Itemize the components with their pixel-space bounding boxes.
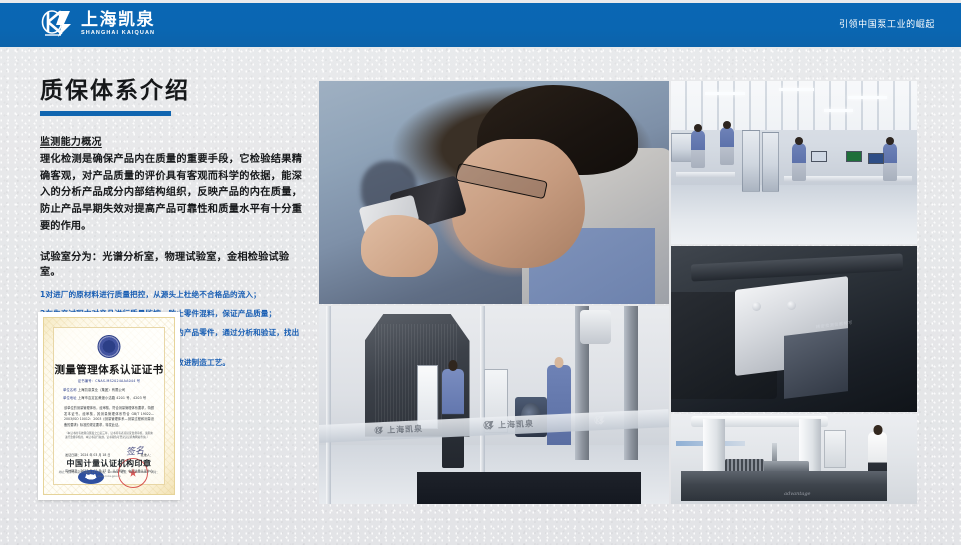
granite-table <box>417 472 641 504</box>
brand-logo[interactable]: 上海凯泉 SHANGHAI KAIQUAN <box>40 7 155 41</box>
ceiling-lamp <box>705 92 744 95</box>
ceiling-lamp <box>824 109 854 112</box>
brand-wordmark: 上海凯泉 SHANGHAI KAIQUAN <box>81 12 155 37</box>
certificate-field-company: 单位名称 上海凯泉泵业（集团）有限公司 <box>63 387 155 392</box>
hand <box>361 215 438 277</box>
certificate-footer: 中国计量认证机构印章 <box>54 458 164 469</box>
storage-cabinet <box>742 130 759 192</box>
certificate-note-text: （本证书的有效期自颁发之日起三年，证书持有者应接受监督审核，逾期未进行监督审核的… <box>65 432 153 441</box>
machine-brand-text: advantage <box>784 491 810 497</box>
header-top-strip <box>0 0 961 3</box>
certificate-id-line: 证书编号：CNAS-MS2024AAA044 号 <box>54 378 164 383</box>
brand-name-en: SHANGHAI KAIQUAN <box>81 31 155 37</box>
lab-worker <box>883 143 897 181</box>
header-tagline: 引领中国泵工业的崛起 <box>839 0 935 47</box>
technician-observer <box>547 365 572 444</box>
computer-monitor <box>811 151 827 162</box>
photo-instrument-closeup[interactable]: 精密检测仪器特写 精密检测仪器特写 <box>671 246 917 412</box>
cmm-probe <box>772 443 777 463</box>
certificate-image[interactable]: 测量管理体系认证证书 证书编号：CNAS-MS2024AAA044 号 单位名称… <box>38 312 180 500</box>
top-header-bar: 上海凯泉 SHANGHAI KAIQUAN 引领中国泵工业的崛起 <box>0 0 961 47</box>
national-measurement-emblem <box>98 335 121 358</box>
certificate-face: 测量管理体系认证证书 证书编号：CNAS-MS2024AAA044 号 单位名称… <box>53 327 165 485</box>
computer-monitor <box>846 151 862 162</box>
equipment-cabinet <box>824 430 846 468</box>
brand-name-cn: 上海凯泉 <box>81 12 155 29</box>
railing-brand-text: 上海凯泉 <box>387 424 423 437</box>
photo-laboratory-room[interactable]: 理化检测实验室全景 <box>671 81 917 244</box>
load-cell-cylinder <box>580 310 612 344</box>
lab-bench <box>676 172 735 178</box>
certificate-title: 测量管理体系认证证书 <box>54 362 164 377</box>
photo-collage: 技术人员使用金相显微镜检测 理化检测实验室全景 <box>319 81 917 504</box>
lab-worker <box>691 130 705 168</box>
photo-microscope-inspection[interactable]: 技术人员使用金相显微镜检测 <box>319 81 669 304</box>
list-item: 1对进厂的原材料进行质量把控，从源头上杜绝不合格品的流入； <box>40 289 302 301</box>
glass-partition-mullion <box>326 306 331 504</box>
photo-physical-test-hall[interactable]: 上海凯泉 上海凯泉 <box>319 306 669 504</box>
field-value: 上海市嘉定区黄渡小洁路 4201 号、4203 号 <box>78 396 147 400</box>
lab-worker <box>792 143 806 181</box>
field-key: 单位地址 <box>63 396 77 400</box>
floor <box>671 185 917 244</box>
handwritten-signature: 签名 <box>125 443 144 458</box>
railing-brand-text: 上海凯泉 <box>498 418 534 431</box>
tensile-test-column <box>624 306 638 460</box>
field-key: 单位名称 <box>63 388 77 392</box>
slide-root: 上海凯泉 SHANGHAI KAIQUAN 引领中国泵工业的崛起 质保体系介绍 … <box>0 0 961 545</box>
section-sub-heading: 监测能力概况 <box>40 133 302 148</box>
kaiquan-k-mark-icon <box>40 8 74 40</box>
certificate-border: 测量管理体系认证证书 证书编号：CNAS-MS2024AAA044 号 单位名称… <box>43 317 175 495</box>
instrument-panel <box>784 328 848 399</box>
certificate-footer-sub: 地址：北京市海淀区知春路 11 号 邮编：100088 电话：010-00000… <box>54 470 164 479</box>
photo-cmm-measurement[interactable]: advantage 三坐标测量机检测零件 <box>671 414 917 504</box>
section-paragraph: 理化检测是确保产品内在质量的重要手段，它检验结果精确客观，对产品质量的评价具有客… <box>40 152 302 235</box>
certificate-field-address: 单位地址 上海市嘉定区黄渡小洁路 4201 号、4203 号 <box>63 395 155 400</box>
certificate-body-text: 该单位的测量管理体系，经审核，符合测量管理体系要求，特颁发本证书。经审核，其测量… <box>64 406 154 428</box>
lab-worker <box>720 127 734 165</box>
cmm-gantry-column <box>703 419 725 471</box>
face <box>452 139 585 268</box>
storage-cabinet <box>762 132 779 192</box>
railing-brand-mark: 上海凯泉 <box>483 417 535 432</box>
page-title: 质保体系介绍 <box>40 78 302 104</box>
field-value: 上海凯泉泵业（集团）有限公司 <box>78 388 126 392</box>
instrument-knob <box>787 301 796 310</box>
laboratory-types-line: 试验室分为：光谱分析室，物理试验室，金相检验试验室。 <box>40 248 302 278</box>
issue-date: 发证日期：2024 年 03 月 18 日 <box>65 452 110 457</box>
ceiling-lamp <box>848 96 887 99</box>
title-underline-rule <box>40 111 171 116</box>
ceiling-lamp <box>779 88 813 91</box>
computer-monitor <box>868 153 884 164</box>
railing-brand-mark <box>594 414 607 428</box>
railing-brand-mark: 上海凯泉 <box>374 424 423 437</box>
